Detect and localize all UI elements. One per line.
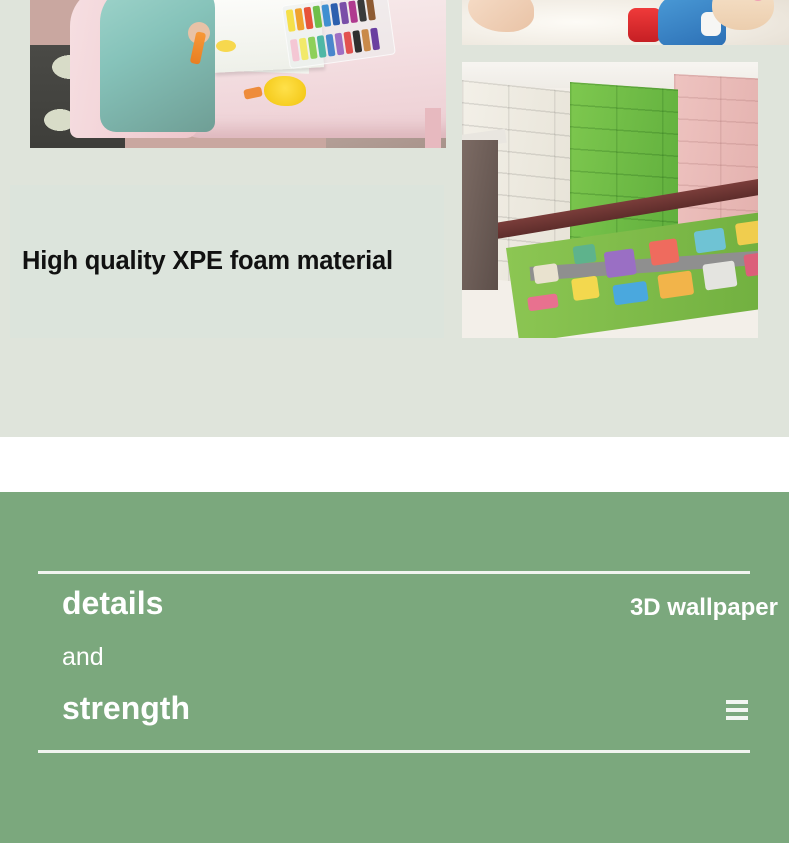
photo-yellow-smudge xyxy=(216,40,236,52)
banner-headline-line-2: and xyxy=(62,645,104,670)
photo-baby-on-white-rug xyxy=(462,0,789,45)
photo-cabinet xyxy=(462,140,498,290)
top-product-section: High quality XPE foam material xyxy=(0,0,789,437)
xpe-foam-material-panel: High quality XPE foam material xyxy=(10,185,444,338)
photo-3d-brick-wallpaper-room xyxy=(462,62,758,338)
banner-divider-bottom xyxy=(38,750,750,753)
xpe-foam-material-heading: High quality XPE foam material xyxy=(10,247,393,276)
hamburger-line-2 xyxy=(726,708,748,712)
brand-label-3d-wallpaper: 3D wallpaper xyxy=(630,594,778,622)
photo-red-toy xyxy=(628,8,662,42)
banner-headline-line-1: details xyxy=(62,587,163,619)
section-divider-gap xyxy=(0,437,789,492)
photo-child-body xyxy=(100,0,215,132)
photo-table-leg xyxy=(425,108,441,148)
hamburger-line-1 xyxy=(726,700,748,704)
photo-child-drawing-at-pink-table xyxy=(30,0,446,148)
details-and-strength-banner: details and strength 3D wallpaper xyxy=(0,492,789,843)
banner-divider-top xyxy=(38,571,750,574)
banner-headline-line-3: strength xyxy=(62,692,190,724)
hamburger-menu-icon[interactable] xyxy=(726,700,748,720)
photo-yellow-dough-shape xyxy=(264,76,306,106)
hamburger-line-3 xyxy=(726,716,748,720)
